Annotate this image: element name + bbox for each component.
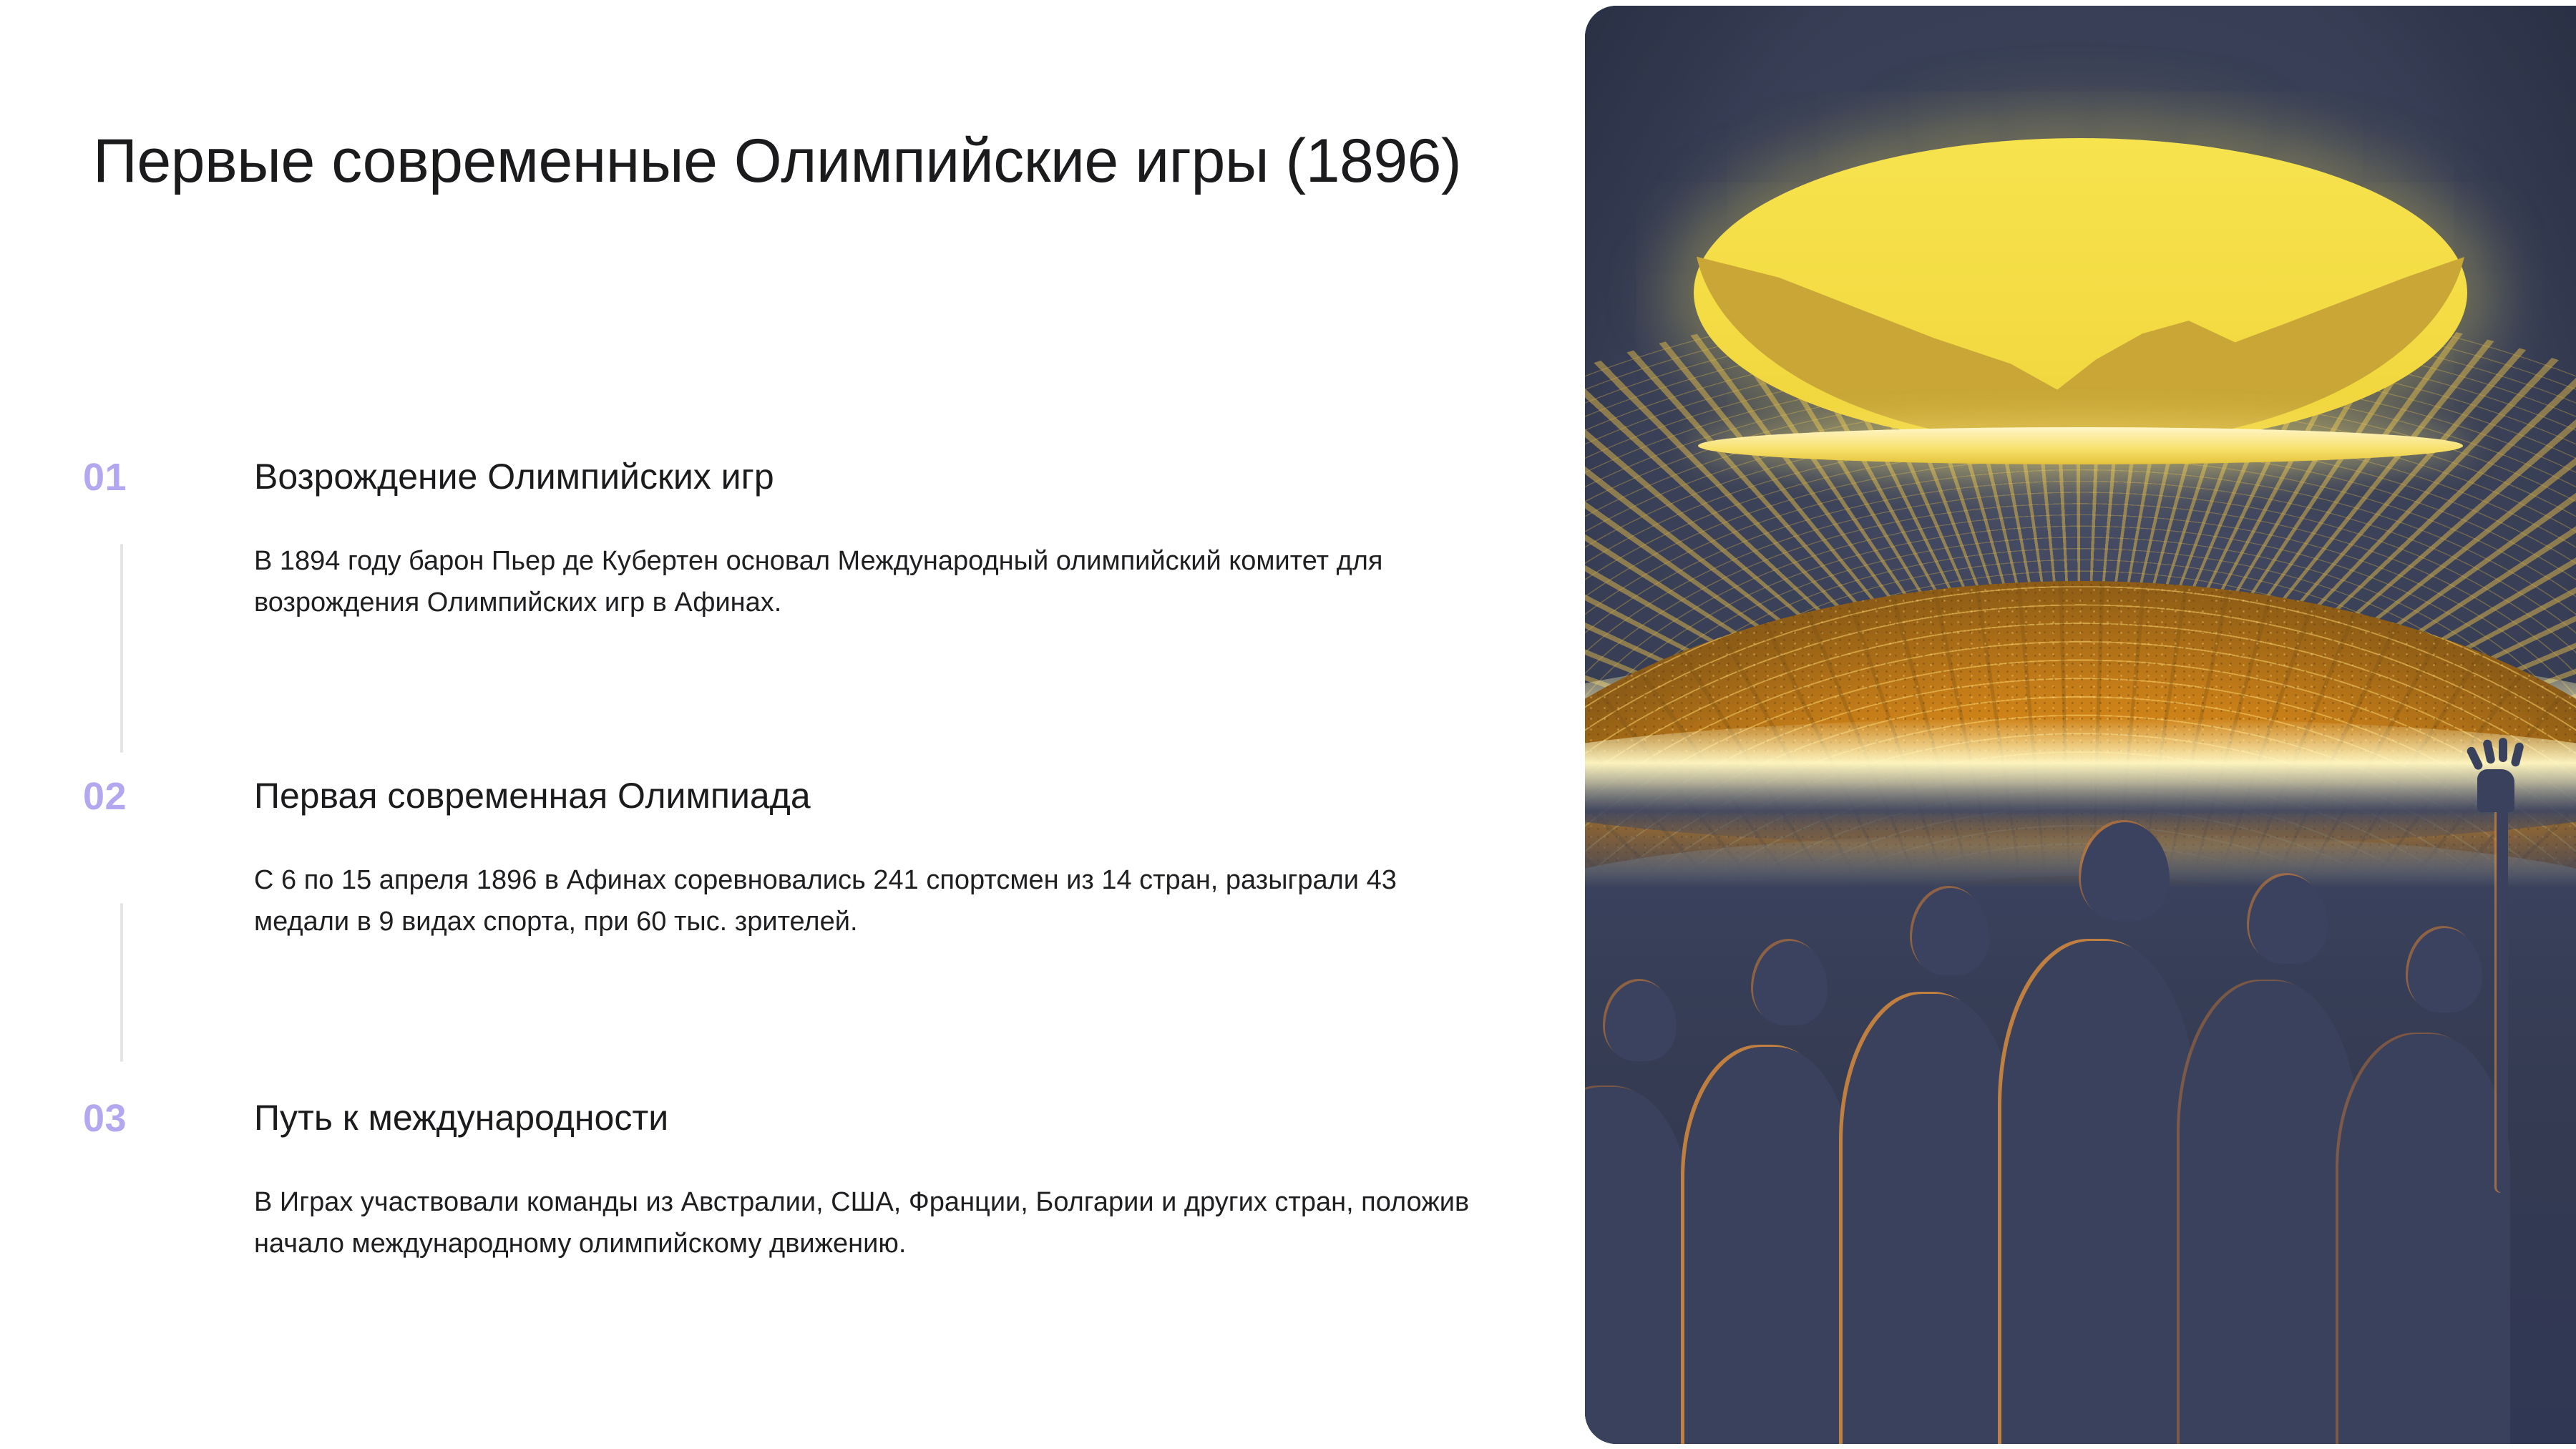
list-item-number: 01: [83, 458, 127, 497]
stadium-illustration: [1585, 6, 2576, 1444]
connector-line-1: [120, 544, 123, 753]
raised-arm: [2497, 782, 2508, 1192]
spectator-body: [2001, 941, 2196, 1444]
list-item-title: Путь к международности: [254, 1096, 668, 1139]
spectator-head: [1912, 888, 1989, 975]
spectator-head: [2408, 928, 2482, 1013]
hand-finger: [2465, 746, 2484, 771]
spectator-body: [2338, 1034, 2510, 1444]
stadium-artwork: [1585, 6, 2576, 1444]
spectator-body: [1684, 1047, 1853, 1444]
raised-hand: [2456, 732, 2542, 839]
list-item-header: 03 Путь к международности: [0, 1099, 1585, 1163]
hand-finger: [2510, 742, 2524, 768]
spectator-body: [2180, 981, 2358, 1444]
list-item-header: 01 Возрождение Олимпийских игр: [0, 458, 1585, 522]
list-item-title: Первая современная Олимпиада: [254, 774, 811, 817]
list-item-body: С 6 по 15 апреля 1896 в Афинах соревнова…: [254, 860, 1492, 943]
list-item-number: 03: [83, 1099, 127, 1138]
dome-inner-shadow: [1694, 230, 2467, 447]
list-item-title: Возрождение Олимпийских игр: [254, 455, 774, 498]
spectator-body: [1843, 994, 2017, 1444]
hand-finger: [2499, 738, 2507, 762]
page-title: Первые современные Олимпийские игры (189…: [93, 122, 1488, 202]
connector-line-2: [120, 903, 123, 1062]
hand-palm: [2477, 769, 2514, 812]
list-item-header: 02 Первая современная Олимпиада: [0, 777, 1585, 841]
list-item-number: 02: [83, 777, 127, 816]
spectator-head: [1605, 981, 1677, 1061]
dome-lip-highlight: [1698, 427, 2463, 464]
spectator-head: [2249, 875, 2328, 964]
content-column: Первые современные Олимпийские игры (189…: [0, 0, 1585, 1449]
spectator-body: [1585, 1087, 1690, 1444]
spectator-head: [1753, 941, 1828, 1025]
foreground-crowd: [1585, 782, 2576, 1444]
list-item-body: В 1894 году барон Пьер де Кубертен основ…: [254, 541, 1492, 624]
spectator-head: [2081, 822, 2170, 921]
slide-root: Первые современные Олимпийские игры (189…: [0, 0, 2576, 1449]
hand-finger: [2482, 739, 2496, 765]
list-item-body: В Играх участвовали команды из Австралии…: [254, 1182, 1492, 1265]
